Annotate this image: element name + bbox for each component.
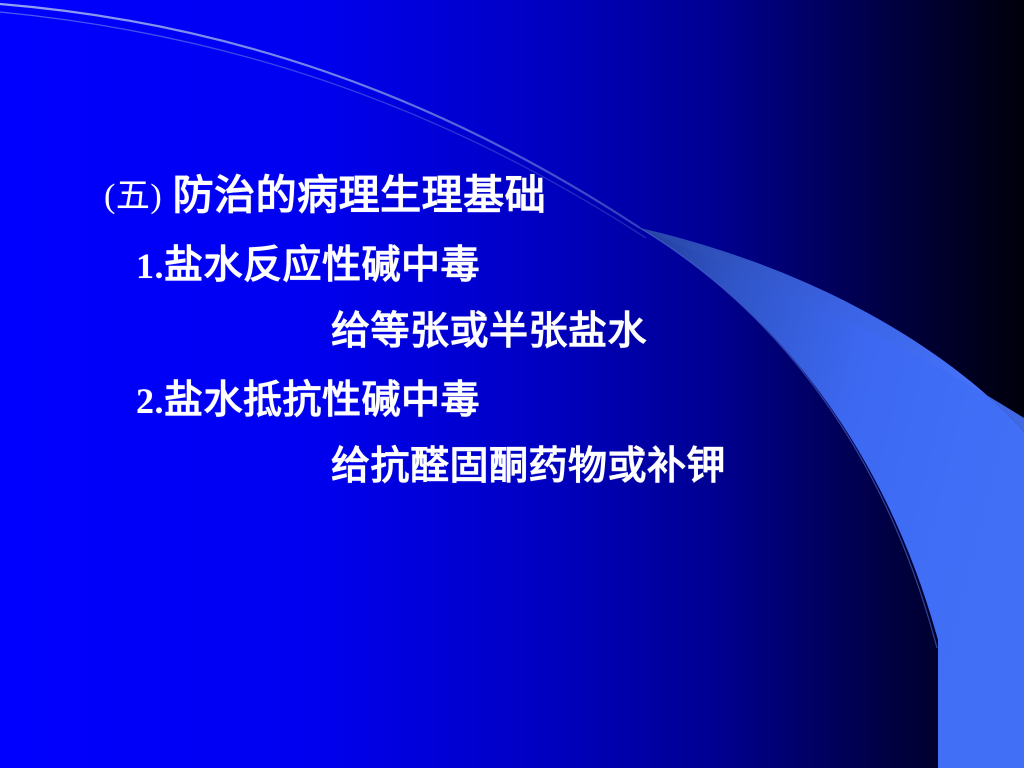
title-text: 防治的病理生理基础 (173, 172, 547, 218)
slide-content: (五) 防治的病理生理基础 1.盐水反应性碱中毒 给等张或半张盐水 2.盐水抵抗… (0, 0, 1024, 768)
bullet-item-1: 1.盐水反应性碱中毒 (136, 243, 480, 289)
presentation-slide: (五) 防治的病理生理基础 1.盐水反应性碱中毒 给等张或半张盐水 2.盐水抵抗… (0, 0, 1024, 768)
bullet-item-1-number: 1. (136, 246, 164, 286)
bullet-item-1-label: 盐水反应性碱中毒 (164, 244, 480, 287)
bullet-item-2-label: 盐水抵抗性碱中毒 (164, 379, 480, 422)
slide-title: (五) 防治的病理生理基础 (104, 172, 546, 220)
bullet-item-2-detail: 给抗醛固酮药物或补钾 (331, 444, 726, 489)
bullet-item-2-number: 2. (136, 381, 164, 421)
bullet-item-2: 2.盐水抵抗性碱中毒 (136, 378, 480, 424)
bullet-item-1-detail: 给等张或半张盐水 (331, 309, 647, 354)
title-marker: (五) (104, 178, 162, 215)
